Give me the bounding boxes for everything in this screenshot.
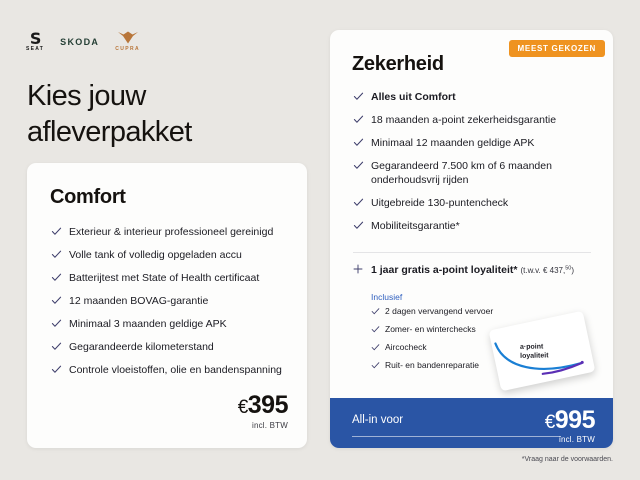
comfort-title: Comfort — [50, 186, 126, 209]
list-item-label: Batterijtest met State of Health certifi… — [69, 272, 259, 284]
list-item-label: Controle vloeistoffen, olie en bandenspa… — [69, 364, 282, 376]
list-item: 18 maanden a-point zekerheidsgarantie — [353, 113, 603, 127]
check-icon — [371, 343, 380, 352]
list-item-label: Alles uit Comfort — [371, 91, 456, 103]
cupra-wordmark: CUPRA — [115, 46, 140, 52]
list-item: Volle tank of volledig opgeladen accu — [51, 248, 291, 262]
list-item-label: 2 dagen vervangend vervoer — [385, 306, 493, 316]
currency-symbol: € — [238, 397, 248, 418]
list-item: 12 maanden BOVAG-garantie — [51, 294, 291, 308]
loyalty-value-suffix: ) — [571, 266, 574, 275]
check-icon — [371, 325, 380, 334]
list-item: Minimaal 3 maanden geldige APK — [51, 317, 291, 331]
list-item: Mobiliteitsgarantie* — [353, 219, 603, 233]
list-item: Uitgebreide 130-puntencheck — [353, 196, 603, 210]
list-item: Alles uit Comfort — [353, 90, 603, 104]
zekerheid-price-note: incl. BTW — [545, 435, 595, 444]
comfort-price-block: €395 incl. BTW — [238, 391, 288, 430]
list-item: Minimaal 12 maanden geldige APK — [353, 136, 603, 150]
skoda-logo: SKODA — [60, 37, 99, 47]
plus-icon — [353, 264, 363, 274]
check-icon — [353, 160, 364, 171]
list-item-label: Mobiliteitsgarantie* — [371, 220, 460, 232]
inclusive-label: Inclusief — [371, 292, 402, 302]
list-item: Batterijtest met State of Health certifi… — [51, 271, 291, 285]
loyalty-value-prefix: (t.w.v. € 437, — [520, 266, 565, 275]
list-item-label: Exterieur & interieur professioneel gere… — [69, 226, 273, 238]
loyalty-card-line2: loyaliteit — [520, 352, 549, 361]
list-item-label: Minimaal 3 maanden geldige APK — [69, 318, 227, 330]
zekerheid-price-block: €995 incl. BTW — [545, 406, 595, 444]
list-item-label: Aircocheck — [385, 342, 427, 352]
list-item: Exterieur & interieur professioneel gere… — [51, 225, 291, 239]
zekerheid-price-amount: 995 — [555, 406, 595, 434]
currency-symbol: € — [545, 412, 555, 433]
list-item-label: 12 maanden BOVAG-garantie — [69, 295, 208, 307]
cupra-mark-icon — [117, 31, 139, 44]
seat-logo: S SEAT — [26, 32, 44, 52]
loyalty-title: 1 jaar gratis a-point loyaliteit* — [353, 264, 517, 276]
check-icon — [51, 226, 62, 237]
seat-wordmark: SEAT — [26, 46, 44, 52]
list-item: Gegarandeerde kilometerstand — [51, 340, 291, 354]
list-item-label: Uitgebreide 130-puntencheck — [371, 197, 508, 209]
footnote: *Vraag naar de voorwaarden. — [522, 456, 613, 463]
list-item: 2 dagen vervangend vervoer — [371, 306, 551, 317]
check-icon — [51, 272, 62, 283]
package-card-comfort[interactable]: Comfort Exterieur & interieur profession… — [27, 163, 307, 448]
check-icon — [353, 220, 364, 231]
loyalty-row: 1 jaar gratis a-point loyaliteit*(t.w.v.… — [353, 264, 608, 276]
list-item: Controle vloeistoffen, olie en bandenspa… — [51, 363, 291, 377]
check-icon — [51, 364, 62, 375]
list-item-label: Gegarandeerde kilometerstand — [69, 341, 214, 353]
check-icon — [51, 318, 62, 329]
check-icon — [353, 114, 364, 125]
comfort-feature-list: Exterieur & interieur professioneel gere… — [51, 225, 291, 386]
list-item-label: Volle tank of volledig opgeladen accu — [69, 249, 242, 261]
status-badge: MEEST GEKOZEN — [509, 40, 605, 57]
loyalty-card-text: a·point loyaliteit — [520, 343, 549, 360]
check-icon — [353, 91, 364, 102]
zekerheid-title: Zekerheid — [352, 53, 444, 76]
skoda-wordmark: SKODA — [60, 37, 99, 47]
check-icon — [353, 137, 364, 148]
list-item-label: Zomer- en winterchecks — [385, 324, 476, 334]
list-item: Gegarandeerd 7.500 km of 6 maanden onder… — [353, 159, 603, 187]
list-item-label: Minimaal 12 maanden geldige APK — [371, 137, 534, 149]
comfort-price-note: incl. BTW — [238, 421, 288, 430]
section-divider — [353, 252, 591, 253]
list-item-label: 18 maanden a-point zekerheidsgarantie — [371, 114, 556, 126]
check-icon — [371, 361, 380, 370]
seat-mark-icon: S — [30, 32, 41, 45]
allin-price-bar: All-in voor €995 incl. BTW — [330, 398, 613, 448]
list-item-label: Ruit- en bandenreparatie — [385, 360, 479, 370]
zekerheid-price: €995 — [545, 406, 595, 435]
check-icon — [51, 295, 62, 306]
check-icon — [51, 249, 62, 260]
allin-rule — [352, 436, 561, 437]
loyalty-value: (t.w.v. € 437,50) — [520, 266, 574, 275]
brand-logo-bar: S SEAT SKODA CUPRA — [26, 31, 140, 52]
allin-label: All-in voor — [352, 414, 403, 426]
list-item-label: Gegarandeerd 7.500 km of 6 maanden onder… — [371, 160, 552, 186]
promo-page: S SEAT SKODA CUPRA Kies jouw afleverpakk… — [0, 0, 640, 480]
check-icon — [51, 341, 62, 352]
cupra-logo: CUPRA — [115, 31, 140, 52]
zekerheid-feature-list: Alles uit Comfort 18 maanden a-point zek… — [353, 90, 603, 242]
comfort-price: €395 — [238, 391, 288, 420]
check-icon — [371, 307, 380, 316]
package-card-zekerheid[interactable]: MEEST GEKOZEN Zekerheid Alles uit Comfor… — [330, 30, 613, 448]
check-icon — [353, 197, 364, 208]
comfort-price-amount: 395 — [248, 391, 288, 419]
page-title: Kies jouw afleverpakket — [27, 78, 297, 150]
